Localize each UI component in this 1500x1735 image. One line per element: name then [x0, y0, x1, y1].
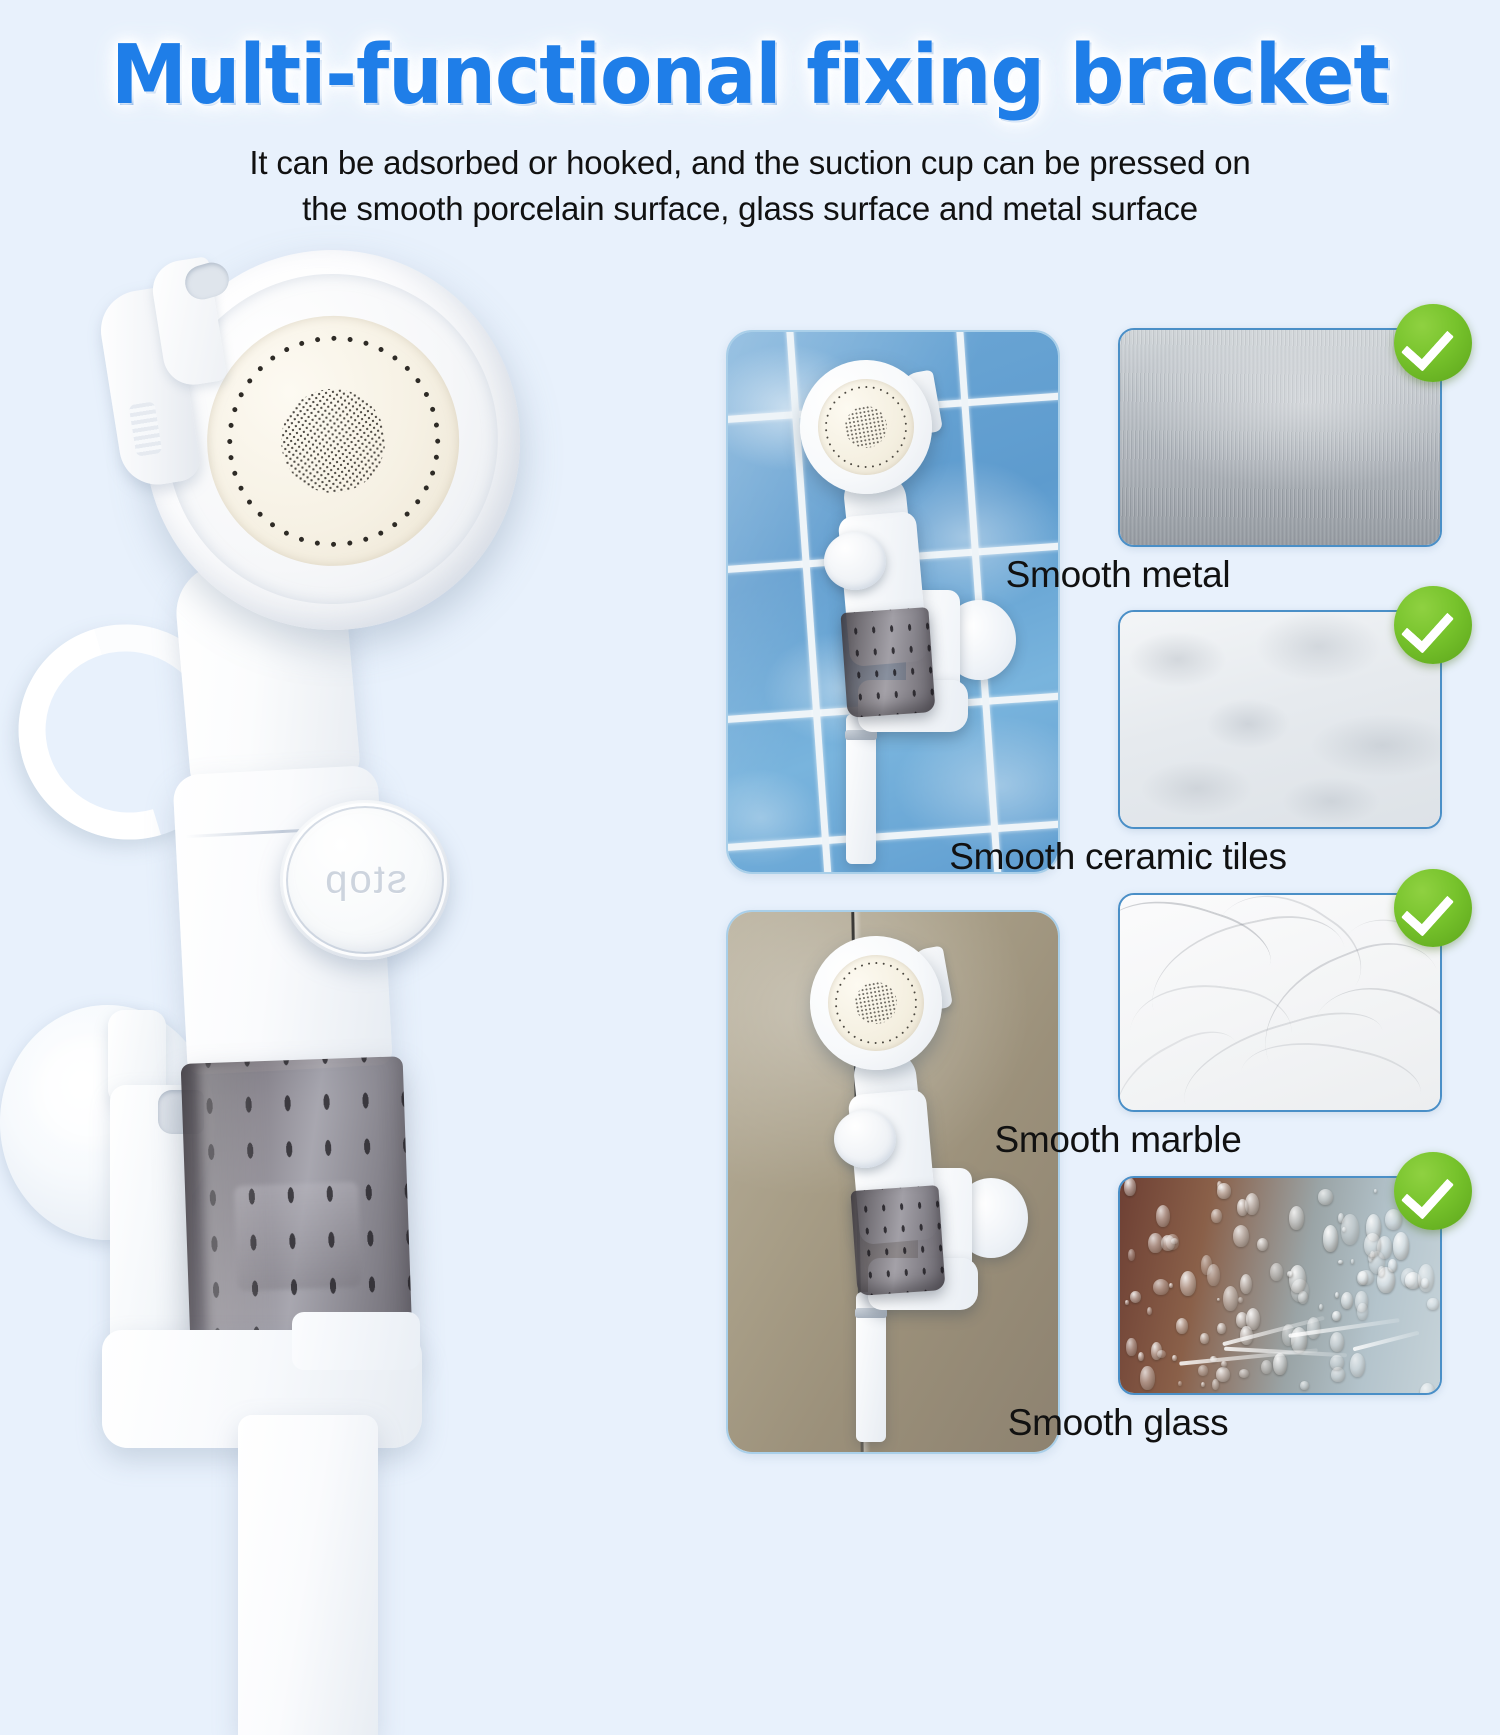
hero-product-image: stop	[0, 230, 550, 1510]
handle-stem	[238, 1415, 378, 1735]
water-droplet	[1323, 1225, 1339, 1252]
water-streak	[1353, 1330, 1420, 1351]
water-droplet	[1130, 1291, 1141, 1303]
water-droplet	[1393, 1232, 1409, 1260]
ceramic-tile-texture	[1120, 612, 1440, 827]
water-droplet	[1161, 1235, 1174, 1251]
water-droplet	[1126, 1338, 1136, 1356]
water-droplet	[1207, 1264, 1220, 1286]
water-droplet	[1330, 1332, 1344, 1352]
water-droplet	[1176, 1318, 1188, 1334]
water-droplet	[1124, 1178, 1135, 1196]
water-droplet	[1261, 1360, 1272, 1374]
water-droplet	[1138, 1352, 1144, 1361]
water-droplet	[1341, 1292, 1353, 1310]
water-droplet	[1148, 1233, 1162, 1254]
subtitle-line-1: It can be adsorbed or hooked, and the su…	[90, 140, 1410, 186]
water-droplet	[1157, 1350, 1166, 1358]
water-droplet	[1338, 1260, 1343, 1264]
check-icon	[1394, 1152, 1472, 1230]
water-droplet	[1289, 1265, 1306, 1293]
brushed-metal-texture	[1120, 330, 1440, 545]
water-droplet	[1287, 1271, 1292, 1277]
photo-beige-wall	[726, 910, 1060, 1454]
water-droplet	[1350, 1353, 1365, 1377]
water-droplet	[1332, 1311, 1340, 1321]
water-droplet	[1128, 1249, 1135, 1260]
water-droplet	[1156, 1205, 1170, 1227]
water-droplet	[1420, 1383, 1435, 1395]
water-droplet	[1257, 1238, 1269, 1251]
water-droplet	[1172, 1355, 1176, 1361]
water-droplet	[1153, 1279, 1169, 1295]
water-droplet	[1335, 1292, 1339, 1298]
shower-head-faceplate	[820, 947, 931, 1058]
page-subtitle: It can be adsorbed or hooked, and the su…	[90, 140, 1410, 232]
surface-label-ceramic: Smooth ceramic tiles	[949, 836, 1286, 878]
filter-gloss	[198, 1061, 275, 1373]
check-icon	[1394, 304, 1472, 382]
filter-cartridge	[840, 607, 935, 718]
water-droplet	[1198, 1365, 1208, 1376]
water-droplet	[1330, 1355, 1344, 1370]
page-title: Multi-functional fixing bracket	[53, 28, 1448, 124]
water-droplet	[1388, 1259, 1397, 1272]
surface-swatch-marble	[1118, 893, 1442, 1112]
water-droplet	[1300, 1381, 1309, 1390]
water-droplet	[1180, 1271, 1196, 1295]
water-droplet	[1200, 1333, 1209, 1344]
water-droplet	[1201, 1382, 1205, 1387]
stop-button[interactable]: stop	[280, 800, 450, 960]
water-droplet	[1357, 1271, 1368, 1285]
photo-blue-tile-wall	[726, 330, 1060, 874]
water-droplet	[1217, 1183, 1231, 1199]
water-droplet	[1318, 1189, 1333, 1205]
stop-button[interactable]	[834, 1110, 896, 1168]
infographic-page: Multi-functional fixing bracket It can b…	[0, 0, 1500, 1500]
water-droplet	[1221, 1361, 1227, 1367]
shower-head-faceplate	[810, 371, 921, 482]
water-droplet	[1270, 1263, 1283, 1281]
water-droplet	[1211, 1209, 1222, 1223]
water-droplet	[1217, 1298, 1220, 1301]
water-droplet	[1319, 1304, 1323, 1310]
stop-button-label: stop	[280, 858, 450, 903]
water-droplet	[1238, 1297, 1244, 1303]
filter-cartridge	[850, 1185, 945, 1296]
surface-swatch-glass	[1118, 1176, 1442, 1395]
wet-glass-texture	[1120, 1178, 1440, 1393]
water-droplet	[1147, 1307, 1152, 1315]
water-droplet	[1239, 1369, 1249, 1378]
water-droplet	[1418, 1264, 1434, 1292]
shower-head-faceplate	[189, 298, 477, 584]
water-droplet	[1237, 1199, 1248, 1215]
check-icon	[1394, 586, 1472, 664]
water-droplet	[1125, 1300, 1129, 1304]
surface-swatch-ceramic	[1118, 610, 1442, 829]
stop-button[interactable]	[824, 532, 886, 590]
surface-label-metal: Smooth metal	[1006, 554, 1231, 596]
surface-label-marble: Smooth marble	[995, 1119, 1242, 1161]
water-droplet	[1273, 1353, 1287, 1375]
water-droplet	[1240, 1274, 1252, 1295]
nozzle-dot-ring	[820, 947, 915, 964]
water-droplet	[1374, 1189, 1378, 1193]
surface-label-glass: Smooth glass	[1008, 1402, 1229, 1444]
water-droplet	[1351, 1259, 1355, 1264]
surface-swatch-metal	[1118, 328, 1442, 547]
water-droplet	[1217, 1323, 1225, 1334]
water-droplet	[1427, 1298, 1438, 1310]
water-droplet	[1233, 1225, 1249, 1247]
nozzle-dot-ring	[810, 371, 905, 388]
water-droplet	[1223, 1286, 1238, 1311]
subtitle-line-2: the smooth porcelain surface, glass surf…	[90, 186, 1410, 232]
center-nozzle-mesh	[852, 979, 901, 1028]
water-droplet	[1357, 1303, 1367, 1320]
water-droplet	[1212, 1379, 1219, 1390]
water-droplet	[1178, 1381, 1182, 1387]
water-droplet	[1169, 1283, 1174, 1288]
hanging-hook	[18, 625, 188, 810]
check-icon	[1394, 869, 1472, 947]
water-droplet	[1341, 1214, 1359, 1244]
water-droplet	[1378, 1266, 1385, 1277]
marble-texture	[1120, 895, 1440, 1110]
water-droplet	[1140, 1366, 1154, 1390]
center-nozzle-mesh	[842, 403, 891, 452]
water-droplet	[1289, 1206, 1304, 1230]
water-droplet	[1364, 1233, 1381, 1257]
